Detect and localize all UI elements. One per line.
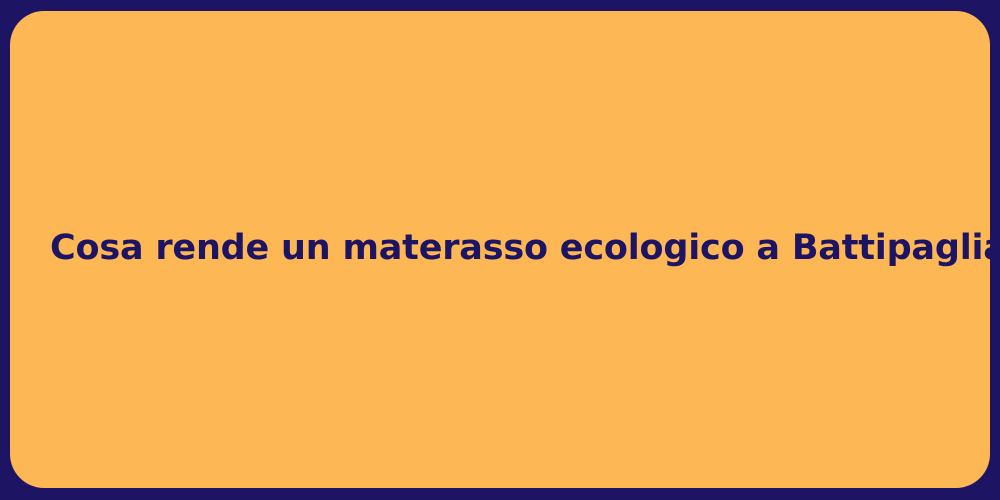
banner-outer-frame: Cosa rende un materasso ecologico a Batt… — [0, 0, 1000, 500]
banner-card: Cosa rende un materasso ecologico a Batt… — [10, 11, 990, 488]
banner-headline: Cosa rende un materasso ecologico a Batt… — [10, 227, 990, 271]
